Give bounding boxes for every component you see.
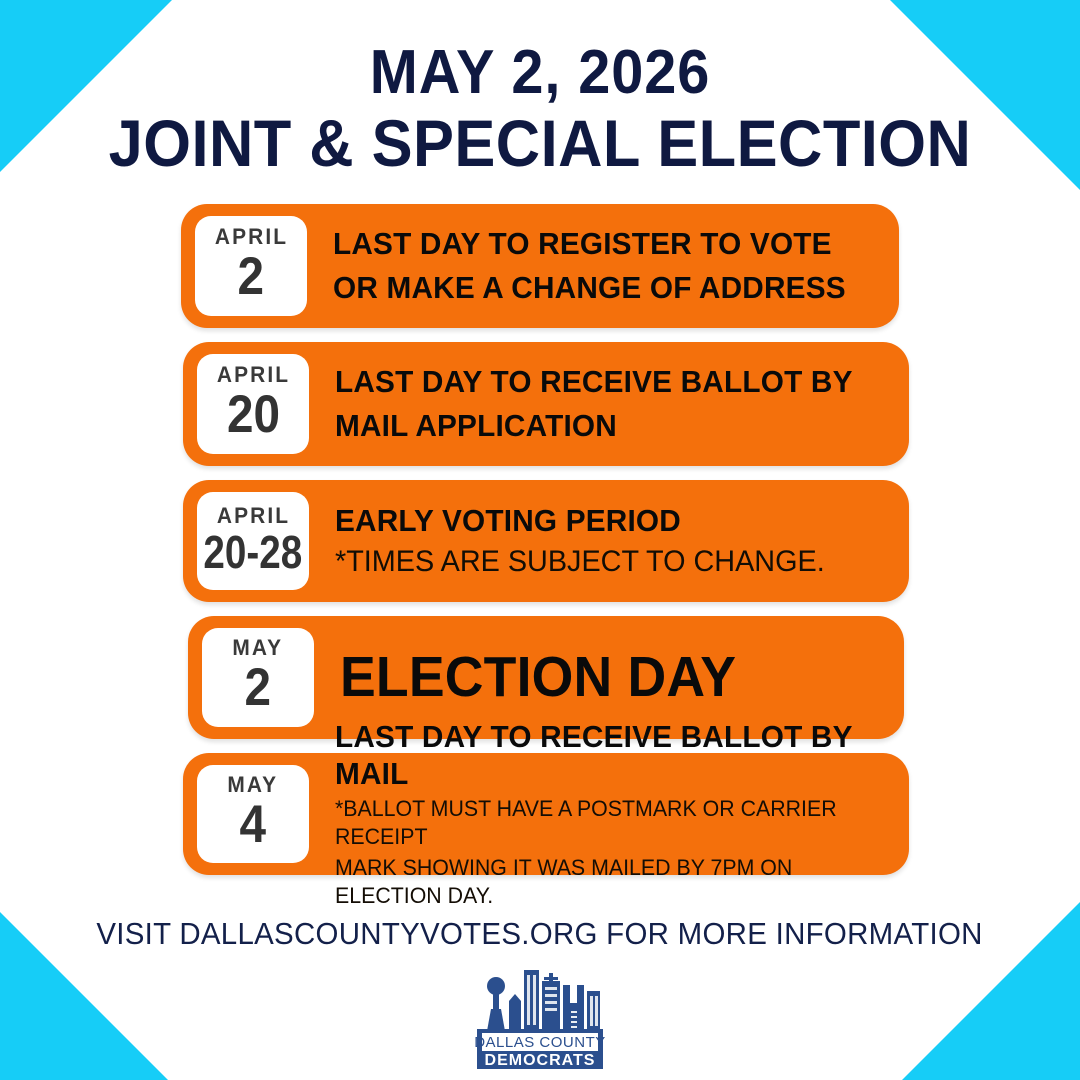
dallas-county-democrats-logo: DALLAS COUNTY DEMOCRATS	[465, 963, 615, 1073]
logo-skyline-icon: DALLAS COUNTY DEMOCRATS	[465, 963, 615, 1073]
date-chip-month: APRIL	[214, 226, 287, 248]
date-chip-month: APRIL	[216, 505, 289, 527]
date-card-heading-line: LAST DAY TO RECEIVE BALLOT BY MAIL	[335, 718, 873, 792]
date-card-subtitle: *TIMES ARE SUBJECT TO CHANGE.	[335, 544, 873, 580]
date-chip-month: MAY	[228, 774, 279, 796]
logo-org-line1: DALLAS COUNTY	[474, 1034, 606, 1051]
date-card-fine-print-line: MARK SHOWING IT WAS MAILED BY 7PM ON ELE…	[335, 854, 878, 910]
date-card-heading-line: LAST DAY TO RECEIVE BALLOT BY	[335, 360, 873, 404]
date-card-body: ELECTION DAY	[314, 646, 890, 709]
date-card-body: LAST DAY TO RECEIVE BALLOT BY MAIL *BALL…	[309, 718, 895, 911]
logo-org-line2: DEMOCRATS	[485, 1052, 596, 1069]
date-card-mail-ballot-receipt-deadline: MAY 4 LAST DAY TO RECEIVE BALLOT BY MAIL…	[183, 753, 909, 875]
date-chip: MAY 2	[202, 628, 314, 727]
date-chip: APRIL 20-28	[197, 492, 309, 590]
date-card-body: LAST DAY TO RECEIVE BALLOT BY MAIL APPLI…	[309, 360, 895, 448]
date-card-register-deadline: APRIL 2 LAST DAY TO REGISTER TO VOTE OR …	[181, 204, 899, 328]
date-chip: APRIL 20	[197, 354, 309, 454]
date-card-heading-line: OR MAKE A CHANGE OF ADDRESS	[333, 266, 863, 310]
date-chip-day: 20-28	[204, 529, 303, 576]
date-card-mail-ballot-application-deadline: APRIL 20 LAST DAY TO RECEIVE BALLOT BY M…	[183, 342, 909, 466]
date-chip: MAY 4	[197, 765, 309, 863]
page-title: JOINT & SPECIAL ELECTION	[38, 109, 1042, 178]
date-chip-day: 20	[226, 388, 279, 442]
date-card-body: LAST DAY TO REGISTER TO VOTE OR MAKE A C…	[307, 222, 885, 310]
date-card-heading-line: LAST DAY TO REGISTER TO VOTE	[333, 222, 863, 266]
website-info-text: VISIT DALLASCOUNTYVOTES.ORG FOR MORE INF…	[0, 916, 1080, 952]
key-dates-list: APRIL 2 LAST DAY TO REGISTER TO VOTE OR …	[0, 204, 1080, 889]
date-card-body: EARLY VOTING PERIOD *TIMES ARE SUBJECT T…	[309, 502, 895, 579]
date-chip-month: MAY	[233, 637, 284, 659]
date-chip-day: 2	[238, 250, 265, 304]
date-chip: APRIL 2	[195, 216, 307, 316]
date-card-heading-line: ELECTION DAY	[340, 646, 857, 709]
date-card-heading-line: MAIL APPLICATION	[335, 404, 873, 448]
date-chip-day: 2	[245, 661, 272, 715]
date-card-heading-line: EARLY VOTING PERIOD	[335, 502, 873, 539]
date-chip-month: APRIL	[216, 364, 289, 386]
date-card-fine-print-line: *BALLOT MUST HAVE A POSTMARK OR CARRIER …	[335, 795, 878, 851]
website-info-label: VISIT DALLASCOUNTYVOTES.ORG FOR MORE INF…	[97, 916, 983, 952]
election-date-heading: MAY 2, 2026	[38, 40, 1042, 105]
date-card-early-voting-period: APRIL 20-28 EARLY VOTING PERIOD *TIMES A…	[183, 480, 909, 602]
election-infographic-poster: MAY 2, 2026 JOINT & SPECIAL ELECTION APR…	[0, 0, 1080, 1080]
poster-header: MAY 2, 2026 JOINT & SPECIAL ELECTION	[0, 40, 1080, 178]
date-chip-day: 4	[240, 798, 267, 852]
